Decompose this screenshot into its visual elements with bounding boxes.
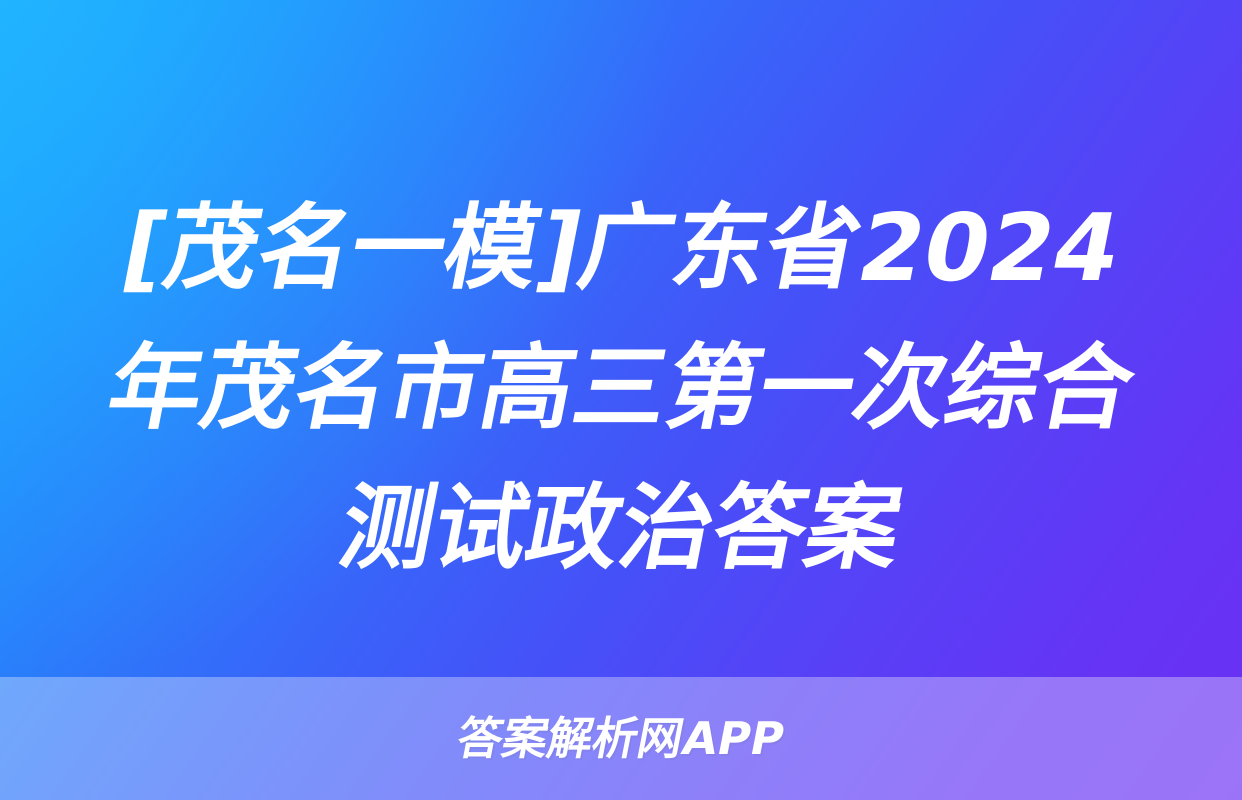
poster-title: [茂名一模]广东省2024 年茂名市高三第一次综合 测试政治答案 bbox=[0, 178, 1242, 638]
watermark-band: 答案解析网APP bbox=[0, 677, 1242, 800]
title-line-1: [茂名一模]广东省2024 bbox=[110, 178, 1132, 318]
title-line-2: 年茂名市高三第一次综合 bbox=[96, 318, 1146, 458]
title-line-3: 测试政治答案 bbox=[328, 458, 913, 598]
watermark-label: 答案解析网APP bbox=[454, 716, 789, 761]
poster-canvas: [茂名一模]广东省2024 年茂名市高三第一次综合 测试政治答案 答案解析网AP… bbox=[0, 0, 1242, 800]
